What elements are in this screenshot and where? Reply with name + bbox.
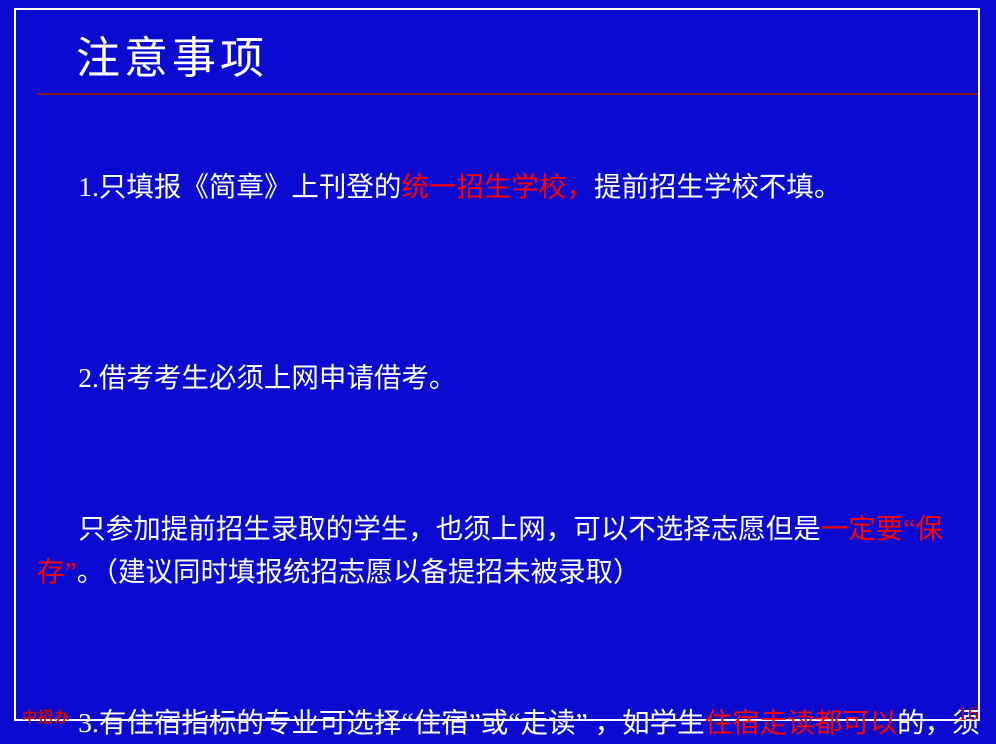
paragraph-3-run-3: 。（建议同时填报统招志愿以备提招未被录取） [77, 556, 641, 587]
body-paragraph-1: 1.只填报《简章》上刊登的统一招生学校，提前招生学校不填。 [37, 122, 987, 251]
paragraph-1-run-1: 1.只填报《简章》上刊登的 [78, 171, 401, 202]
body-paragraph-3: 只参加提前招生录取的学生，也须上网，可以不选择志愿但是一定要“保存”。（建议同时… [37, 464, 987, 636]
body-paragraph-4: 3.有住宿指标的专业可选择“住宿”或“走读” ，如学生住宿走读都可以的，须两次填… [37, 658, 987, 744]
paragraph-spacer-2 [37, 442, 987, 464]
title-block: 注意事项 [0, 28, 996, 98]
slide-body: 1.只填报《简章》上刊登的统一招生学校，提前招生学校不填。 2.借考考生必须上网… [37, 122, 987, 744]
paragraph-4-run-2-emphasis: 住宿走读都可以 [705, 707, 898, 738]
paragraph-2-run-1: 2.借考考生必须上网申请借考。 [78, 362, 456, 393]
paragraph-1-run-3: 提前招生学校不填。 [594, 171, 842, 202]
title-divider-rule [37, 93, 978, 95]
page-title: 注意事项 [76, 28, 268, 90]
presentation-slide: 注意事项 1.只填报《简章》上刊登的统一招生学校，提前招生学校不填。 2.借考考… [0, 0, 996, 744]
slide-page-number: 16 [958, 703, 978, 726]
paragraph-3-run-1: 只参加提前招生录取的学生，也须上网，可以不选择志愿但是 [78, 513, 821, 544]
footer-organization-label: 中招办 [22, 706, 70, 727]
paragraph-spacer-3 [37, 636, 987, 658]
paragraph-spacer-1 [37, 251, 987, 313]
paragraph-1-run-2-emphasis: 统一招生学校， [401, 171, 594, 202]
body-paragraph-2: 2.借考考生必须上网申请借考。 [37, 313, 987, 442]
paragraph-4-run-1: 3.有住宿指标的专业可选择“住宿”或“走读” ，如学生 [78, 707, 704, 738]
